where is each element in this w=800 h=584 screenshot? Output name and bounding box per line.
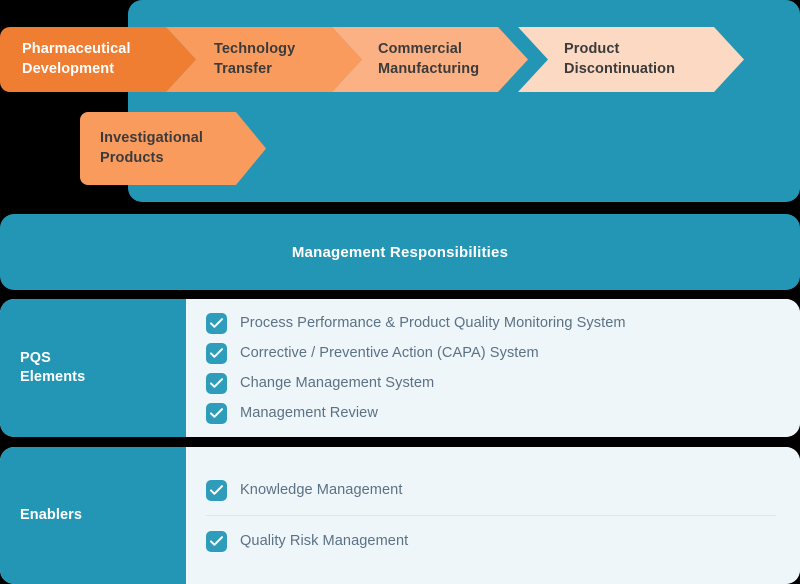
lifecycle-stage-label: Commercial Manufacturing [378,40,479,78]
enablers-label-panel: Enablers [0,447,186,584]
list-item[interactable]: Change Management System [206,372,800,395]
list-item[interactable]: Quality Risk Management [206,516,800,566]
lifecycle-stage-product-discontinuation[interactable]: Product Discontinuation [518,27,744,92]
list-item-label: Change Management System [240,375,434,391]
list-item-label: Process Performance & Product Quality Mo… [240,315,626,331]
list-item[interactable]: Knowledge Management [206,465,800,515]
checkmark-icon[interactable] [206,373,227,394]
checkmark-icon[interactable] [206,480,227,501]
checkmark-icon[interactable] [206,531,227,552]
lifecycle-stage-label: Technology Transfer [214,40,295,78]
lifecycle-sub-arrow-label: Investigational Products [100,129,203,167]
list-item-label: Corrective / Preventive Action (CAPA) Sy… [240,345,539,361]
lifecycle-stage-label: Product Discontinuation [564,40,675,78]
enablers-label: Enablers [20,506,82,525]
pqs-elements-section: PQS Elements Process Performance & Produ… [0,299,800,437]
list-item[interactable]: Process Performance & Product Quality Mo… [206,312,800,335]
lifecycle-diagram: Pharmaceutical Development Technology Tr… [0,0,800,584]
enablers-section: Enablers Knowledge Management [0,447,800,584]
enablers-list: Knowledge Management Quality Risk Manage… [186,447,800,584]
lifecycle-stage-arrows: Pharmaceutical Development Technology Tr… [0,27,800,92]
list-item-label: Quality Risk Management [240,533,408,549]
list-item-label: Management Review [240,405,378,421]
pqs-elements-label: PQS Elements [20,349,85,387]
list-item-label: Knowledge Management [240,482,402,498]
checkmark-icon[interactable] [206,313,227,334]
management-responsibilities-title: Management Responsibilities [292,244,508,261]
lifecycle-stage-pharmaceutical-development[interactable]: Pharmaceutical Development [0,27,196,92]
pqs-elements-label-panel: PQS Elements [0,299,186,437]
pqs-elements-list: Process Performance & Product Quality Mo… [186,299,800,437]
list-item-content: Quality Risk Management [206,530,408,553]
lifecycle-sub-arrow-investigational-products[interactable]: Investigational Products [80,112,266,185]
management-responsibilities-bar: Management Responsibilities [0,214,800,290]
list-item[interactable]: Corrective / Preventive Action (CAPA) Sy… [206,342,800,365]
list-item[interactable]: Management Review [206,402,800,425]
lifecycle-stage-label: Pharmaceutical Development [22,40,131,78]
list-item-content: Knowledge Management [206,479,402,502]
checkmark-icon[interactable] [206,403,227,424]
checkmark-icon[interactable] [206,343,227,364]
